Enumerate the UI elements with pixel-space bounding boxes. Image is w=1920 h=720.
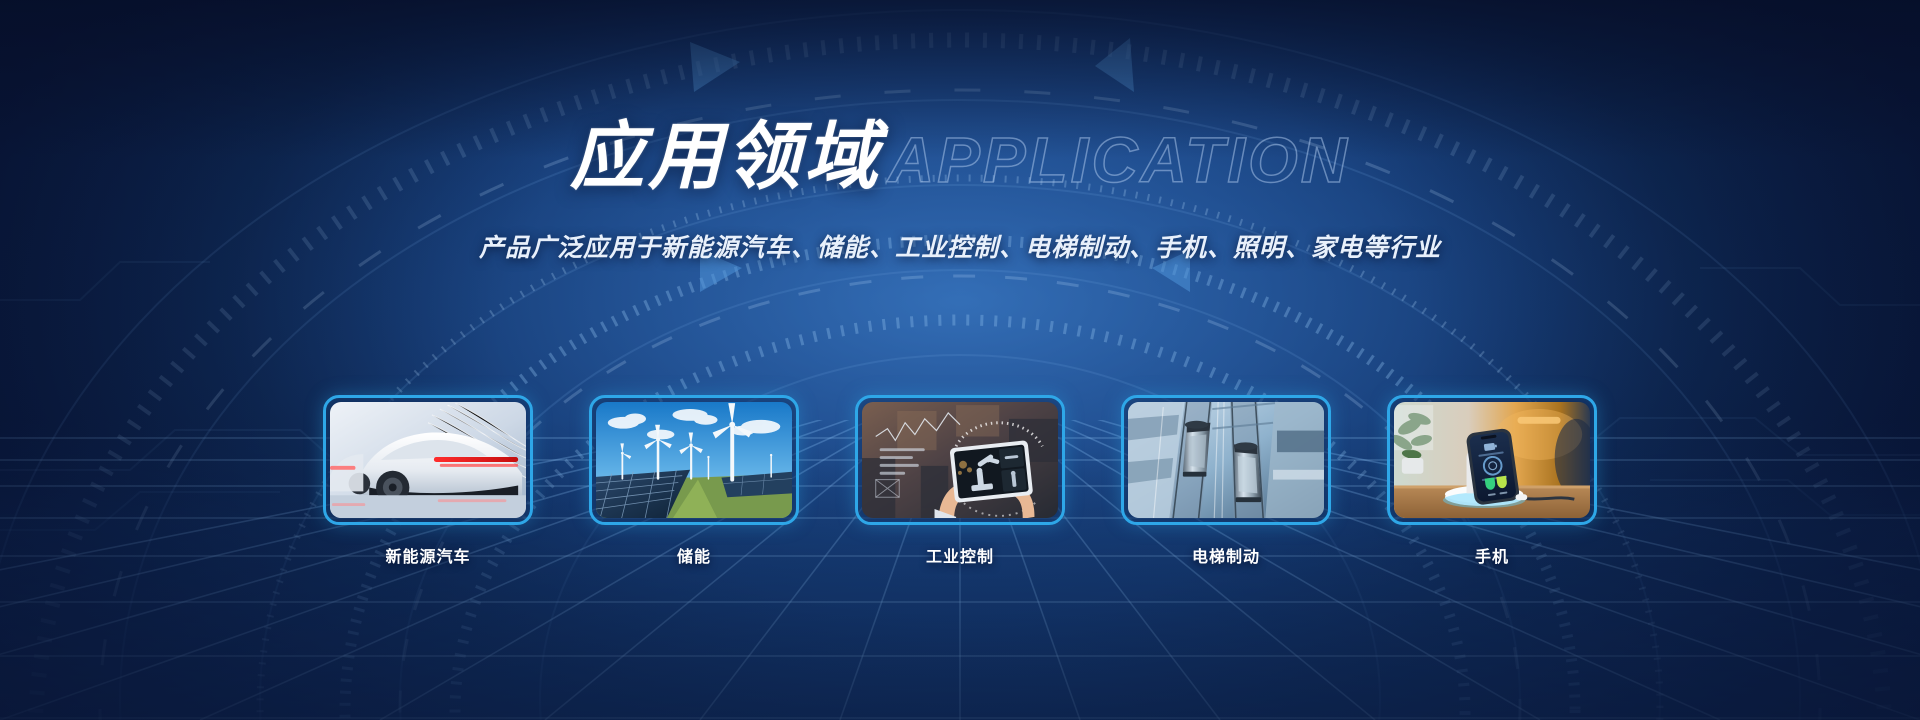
solar-wind-icon (596, 402, 792, 518)
application-card-industrial-control[interactable]: 工业控制 (855, 395, 1065, 567)
card-image-mobile-phone (1394, 402, 1590, 518)
application-card-energy-storage[interactable]: 储能 (589, 395, 799, 567)
card-image-industrial-control (862, 402, 1058, 518)
card-label: 储能 (589, 543, 799, 567)
application-card-elevator-braking[interactable]: 电梯制动 (1121, 395, 1331, 567)
smartphone-charger-icon (1394, 402, 1590, 518)
card-label: 手机 (1387, 543, 1597, 567)
card-label: 新能源汽车 (323, 543, 533, 567)
tablet-robot-icon (862, 402, 1058, 518)
headline-block: 应用领域APPLICATION 产品广泛应用于新能源汽车、储能、工业控制、电梯制… (0, 120, 1920, 264)
application-card-mobile-phone[interactable]: 手机 (1387, 395, 1597, 567)
card-frame[interactable] (323, 395, 533, 525)
card-frame[interactable] (589, 395, 799, 525)
card-frame[interactable] (855, 395, 1065, 525)
application-card-list: 新能源汽车 (0, 395, 1920, 567)
elevator-icon (1128, 402, 1324, 518)
card-image-elevator-braking (1128, 402, 1324, 518)
title-row: 应用领域APPLICATION (570, 120, 1350, 194)
card-image-energy-storage (596, 402, 792, 518)
sports-car-icon (330, 402, 526, 518)
card-label: 电梯制动 (1121, 543, 1331, 567)
page-subtitle: 产品广泛应用于新能源汽车、储能、工业控制、电梯制动、手机、照明、家电等行业 (0, 228, 1920, 264)
application-card-new-energy-vehicle[interactable]: 新能源汽车 (323, 395, 533, 567)
card-image-new-energy-vehicle (330, 402, 526, 518)
application-banner: 应用领域APPLICATION 产品广泛应用于新能源汽车、储能、工业控制、电梯制… (0, 0, 1920, 720)
page-title-english: APPLICATION (888, 128, 1350, 192)
card-frame[interactable] (1121, 395, 1331, 525)
page-title: 应用领域 (570, 120, 882, 194)
card-label: 工业控制 (855, 543, 1065, 567)
card-frame[interactable] (1387, 395, 1597, 525)
